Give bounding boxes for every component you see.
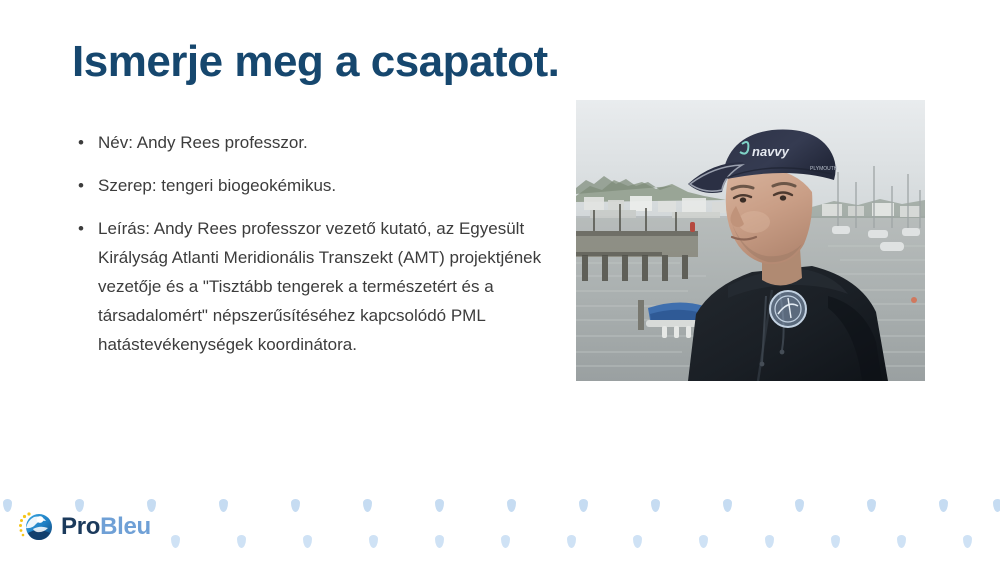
svg-text:navvy: navvy <box>752 144 790 159</box>
list-item-label: Név: Andy Rees professzor. <box>98 128 552 157</box>
list-item: • Szerep: tengeri biogeokémikus. <box>72 171 552 200</box>
water-drop-icon <box>507 499 516 512</box>
water-drop-icon <box>435 535 444 548</box>
water-drop-icon <box>369 535 378 548</box>
water-drop-icon <box>435 499 444 512</box>
water-drop-icon <box>867 499 876 512</box>
water-drop-icon <box>699 535 708 548</box>
pro-bleu-globe-icon <box>16 509 56 545</box>
svg-text:PLYMOUTH: PLYMOUTH <box>810 166 838 172</box>
bullet-marker-icon: • <box>72 214 98 243</box>
page-title-period: . <box>548 37 560 86</box>
list-item-label: Szerep: tengeri biogeokémikus. <box>98 171 552 200</box>
water-drop-icon <box>219 499 228 512</box>
page-title-main: Ismerje meg a csapatot <box>72 37 548 86</box>
water-drop-icon <box>963 535 972 548</box>
water-drop-icon <box>723 499 732 512</box>
water-drop-icon <box>633 535 642 548</box>
water-drop-icon <box>171 535 180 548</box>
logo-text-bleu: Bleu <box>100 513 151 540</box>
water-drop-icon <box>939 499 948 512</box>
list-item-label: Leírás: Andy Rees professzor vezető kuta… <box>98 214 552 359</box>
portrait-photo-image: navvy PLYMOUTH <box>576 100 925 381</box>
water-drop-icon <box>795 499 804 512</box>
page-title: Ismerje meg a csapatot. <box>72 38 559 86</box>
water-drop-icon <box>237 535 246 548</box>
water-drop-icon <box>765 535 774 548</box>
bullet-list: • Név: Andy Rees professzor. • Szerep: t… <box>72 128 552 373</box>
water-drop-icon <box>567 535 576 548</box>
water-drop-icon <box>363 499 372 512</box>
water-drop-icon <box>291 499 300 512</box>
water-drop-icon <box>501 535 510 548</box>
list-item: • Leírás: Andy Rees professzor vezető ku… <box>72 214 552 359</box>
water-drop-icon <box>831 535 840 548</box>
water-drop-icon <box>897 535 906 548</box>
footer: ProBleu <box>0 473 1000 563</box>
logo-text-pro: Pro <box>61 513 100 540</box>
water-drop-icon <box>3 499 12 512</box>
pro-bleu-logo-text: ProBleu <box>61 515 151 539</box>
slide-canvas: Ismerje meg a csapatot. • Név: Andy Rees… <box>0 0 1000 563</box>
water-drop-icon <box>579 499 588 512</box>
list-item: • Név: Andy Rees professzor. <box>72 128 552 157</box>
water-drop-icon <box>993 499 1000 512</box>
water-drop-icon <box>303 535 312 548</box>
portrait-photo: navvy PLYMOUTH <box>576 100 925 381</box>
pro-bleu-logo: ProBleu <box>16 509 151 545</box>
bullet-marker-icon: • <box>72 171 98 200</box>
bullet-marker-icon: • <box>72 128 98 157</box>
water-drop-icon <box>651 499 660 512</box>
